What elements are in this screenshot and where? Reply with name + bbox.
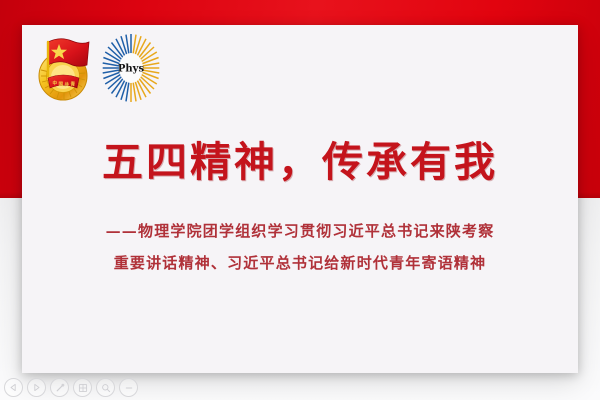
thumbnails-button[interactable] (73, 378, 92, 397)
zoom-out-button[interactable] (119, 378, 138, 397)
poster-subtitle-line-1: ——物理学院团学组织学习贯彻习近平总书记来陕考察 (22, 215, 578, 247)
svg-text:中: 中 (53, 80, 58, 87)
emblem-row: 中 国 共 青 (32, 31, 162, 105)
title-block: 五四精神，传承有我 (22, 137, 578, 188)
physics-department-emblem: Phys (100, 31, 162, 105)
triangle-right-icon (32, 383, 41, 392)
minus-icon (124, 383, 134, 393)
previous-page-button[interactable] (4, 378, 23, 397)
physics-emblem-label: Phys (118, 64, 145, 75)
search-button[interactable] (96, 378, 115, 397)
svg-text:共: 共 (65, 81, 70, 88)
triangle-left-icon (9, 383, 18, 392)
poster-subtitle-line-2: 重要讲话精神、习近平总书记给新时代青年寄语精神 (22, 247, 578, 279)
poster-main-title: 五四精神，传承有我 (22, 137, 578, 188)
communist-youth-league-emblem: 中 国 共 青 (32, 32, 96, 104)
screenshot-viewport: 中 国 共 青 (0, 0, 600, 400)
grid-icon (78, 383, 88, 393)
svg-text:青: 青 (71, 80, 76, 87)
annotate-button[interactable] (50, 378, 69, 397)
viewer-toolbar (4, 378, 138, 397)
next-page-button[interactable] (27, 378, 46, 397)
svg-text:国: 国 (59, 81, 64, 88)
subtitle-block: ——物理学院团学组织学习贯彻习近平总书记来陕考察 重要讲话精神、习近平总书记给新… (22, 215, 578, 280)
pen-icon (55, 383, 65, 393)
poster-card: 中 国 共 青 (22, 25, 578, 373)
search-icon (101, 383, 111, 393)
